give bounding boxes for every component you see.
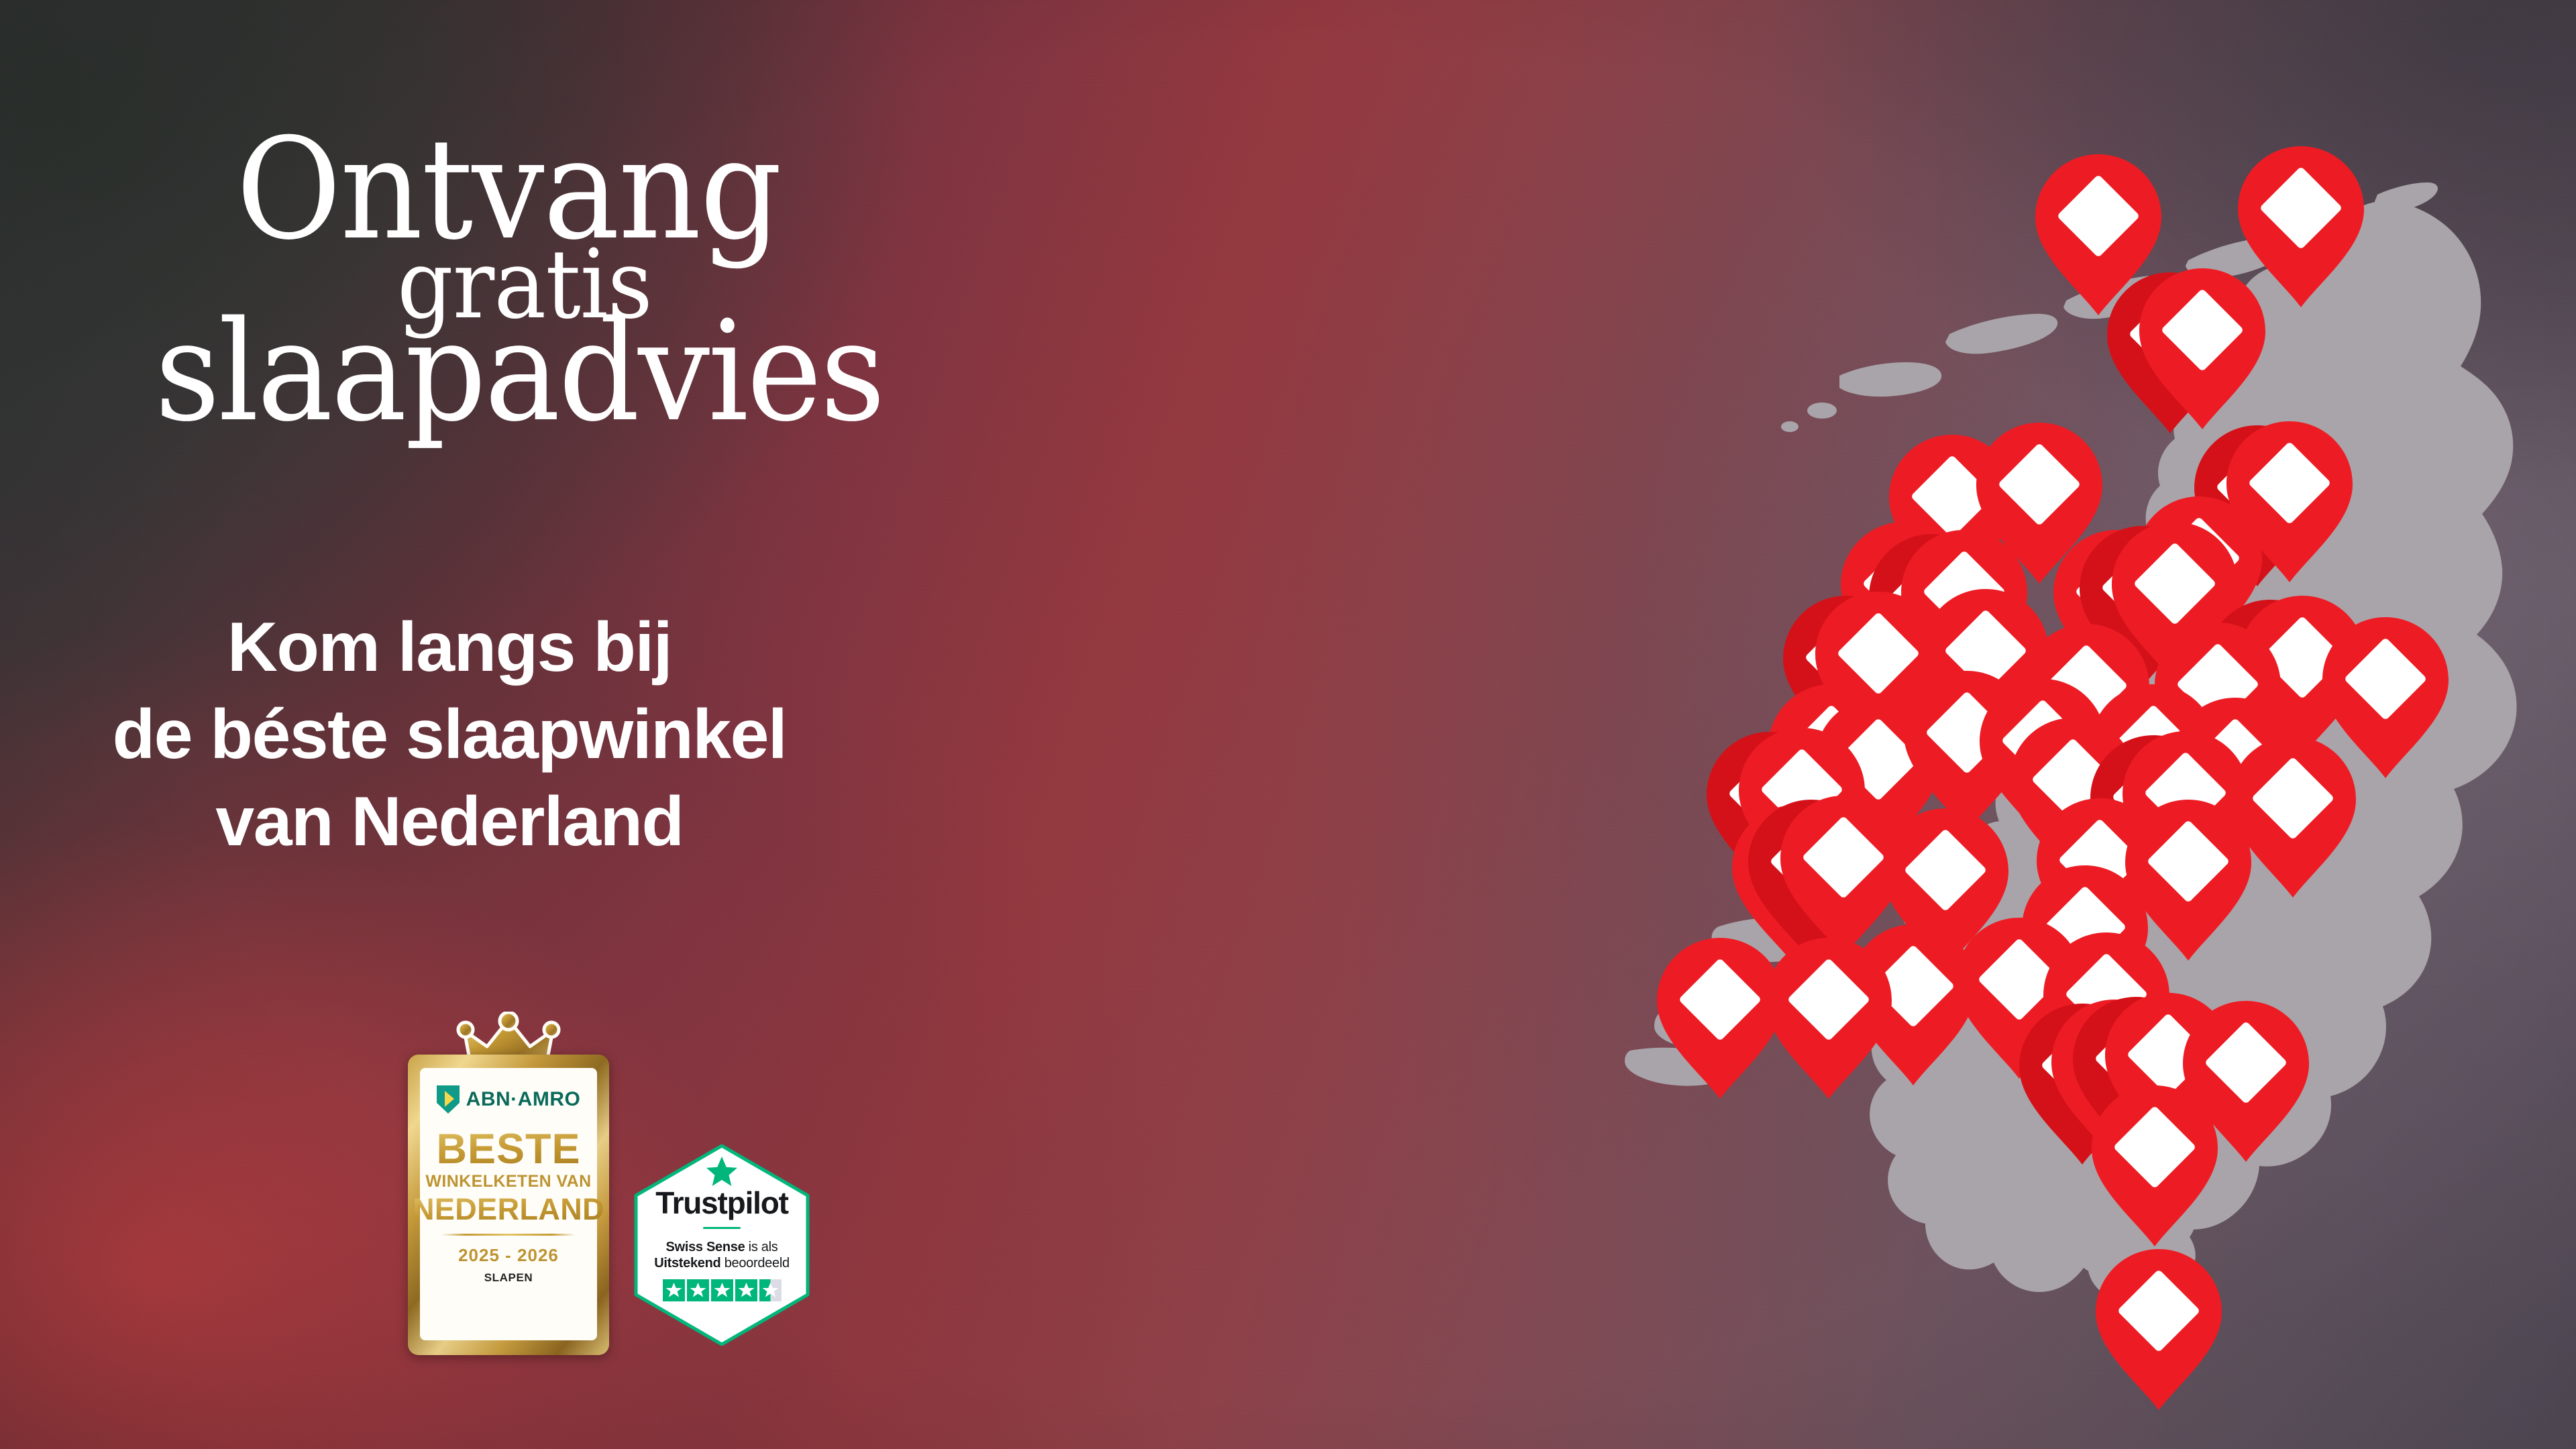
abn-badge-frame: ABN·AMRO BESTE WINKELKETEN VAN NEDERLAND… [408,1055,609,1355]
abn-badge-inner: ABN·AMRO BESTE WINKELKETEN VAN NEDERLAND… [420,1068,597,1340]
trustpilot-star-rating [663,1279,782,1301]
subheadline: Kom langs bij de béste slaapwinkel van N… [0,604,1000,865]
abn-shield-icon [437,1085,460,1114]
subheadline-line-3: van Nederland [0,778,1000,865]
trustpilot-text-end: beoordeeld [720,1256,789,1271]
abn-divider [441,1234,576,1236]
trustpilot-rating-text: Swiss Sense is als Uitstekend beoordeeld [654,1239,790,1272]
netherlands-store-map [1342,0,2576,1449]
map-svg [1342,0,2576,1449]
star-5-half [759,1279,782,1301]
star-3 [711,1279,733,1301]
trustpilot-brand-name: Swiss Sense [666,1240,745,1254]
abn-award-category: SLAPEN [484,1271,533,1285]
trustpilot-wordmark: Trustpilot [655,1185,788,1221]
star-4 [735,1279,757,1301]
abn-amro-logo: ABN·AMRO [437,1085,581,1114]
trustpilot-text-mid: is als [745,1240,777,1254]
star-1 [663,1279,685,1301]
trustpilot-content: Trustpilot Swiss Sense is als Uitstekend… [632,1144,812,1346]
abn-amro-wordmark: ABN·AMRO [466,1088,581,1111]
star-2 [687,1279,709,1301]
abn-award-title: BESTE [436,1128,580,1171]
award-badges-row: ABN·AMRO BESTE WINKELKETEN VAN NEDERLAND… [408,1012,812,1355]
headline: Ontvang gratis slaapadvies [0,131,1100,430]
banner-canvas: Ontvang gratis slaapadvies Kom langs bij… [0,0,2576,1449]
abn-award-country: NEDERLAND [413,1194,604,1224]
trustpilot-star-icon [706,1157,737,1186]
abn-amro-award-badge: ABN·AMRO BESTE WINKELKETEN VAN NEDERLAND… [408,1012,609,1355]
left-content-column: Ontvang gratis slaapadvies Kom langs bij… [0,0,1100,1449]
trustpilot-divider [703,1227,741,1229]
subheadline-line-1: Kom langs bij [0,604,1000,691]
trustpilot-rating-label: Uitstekend [654,1256,720,1271]
abn-award-subtitle: WINKELKETEN VAN [425,1173,591,1190]
abn-award-years: 2025 - 2026 [458,1245,559,1266]
headline-line-3: slaapadvies [13,314,1026,430]
subheadline-line-2: de béste slaapwinkel [0,691,1000,778]
trustpilot-badge: Trustpilot Swiss Sense is als Uitstekend… [632,1144,812,1346]
